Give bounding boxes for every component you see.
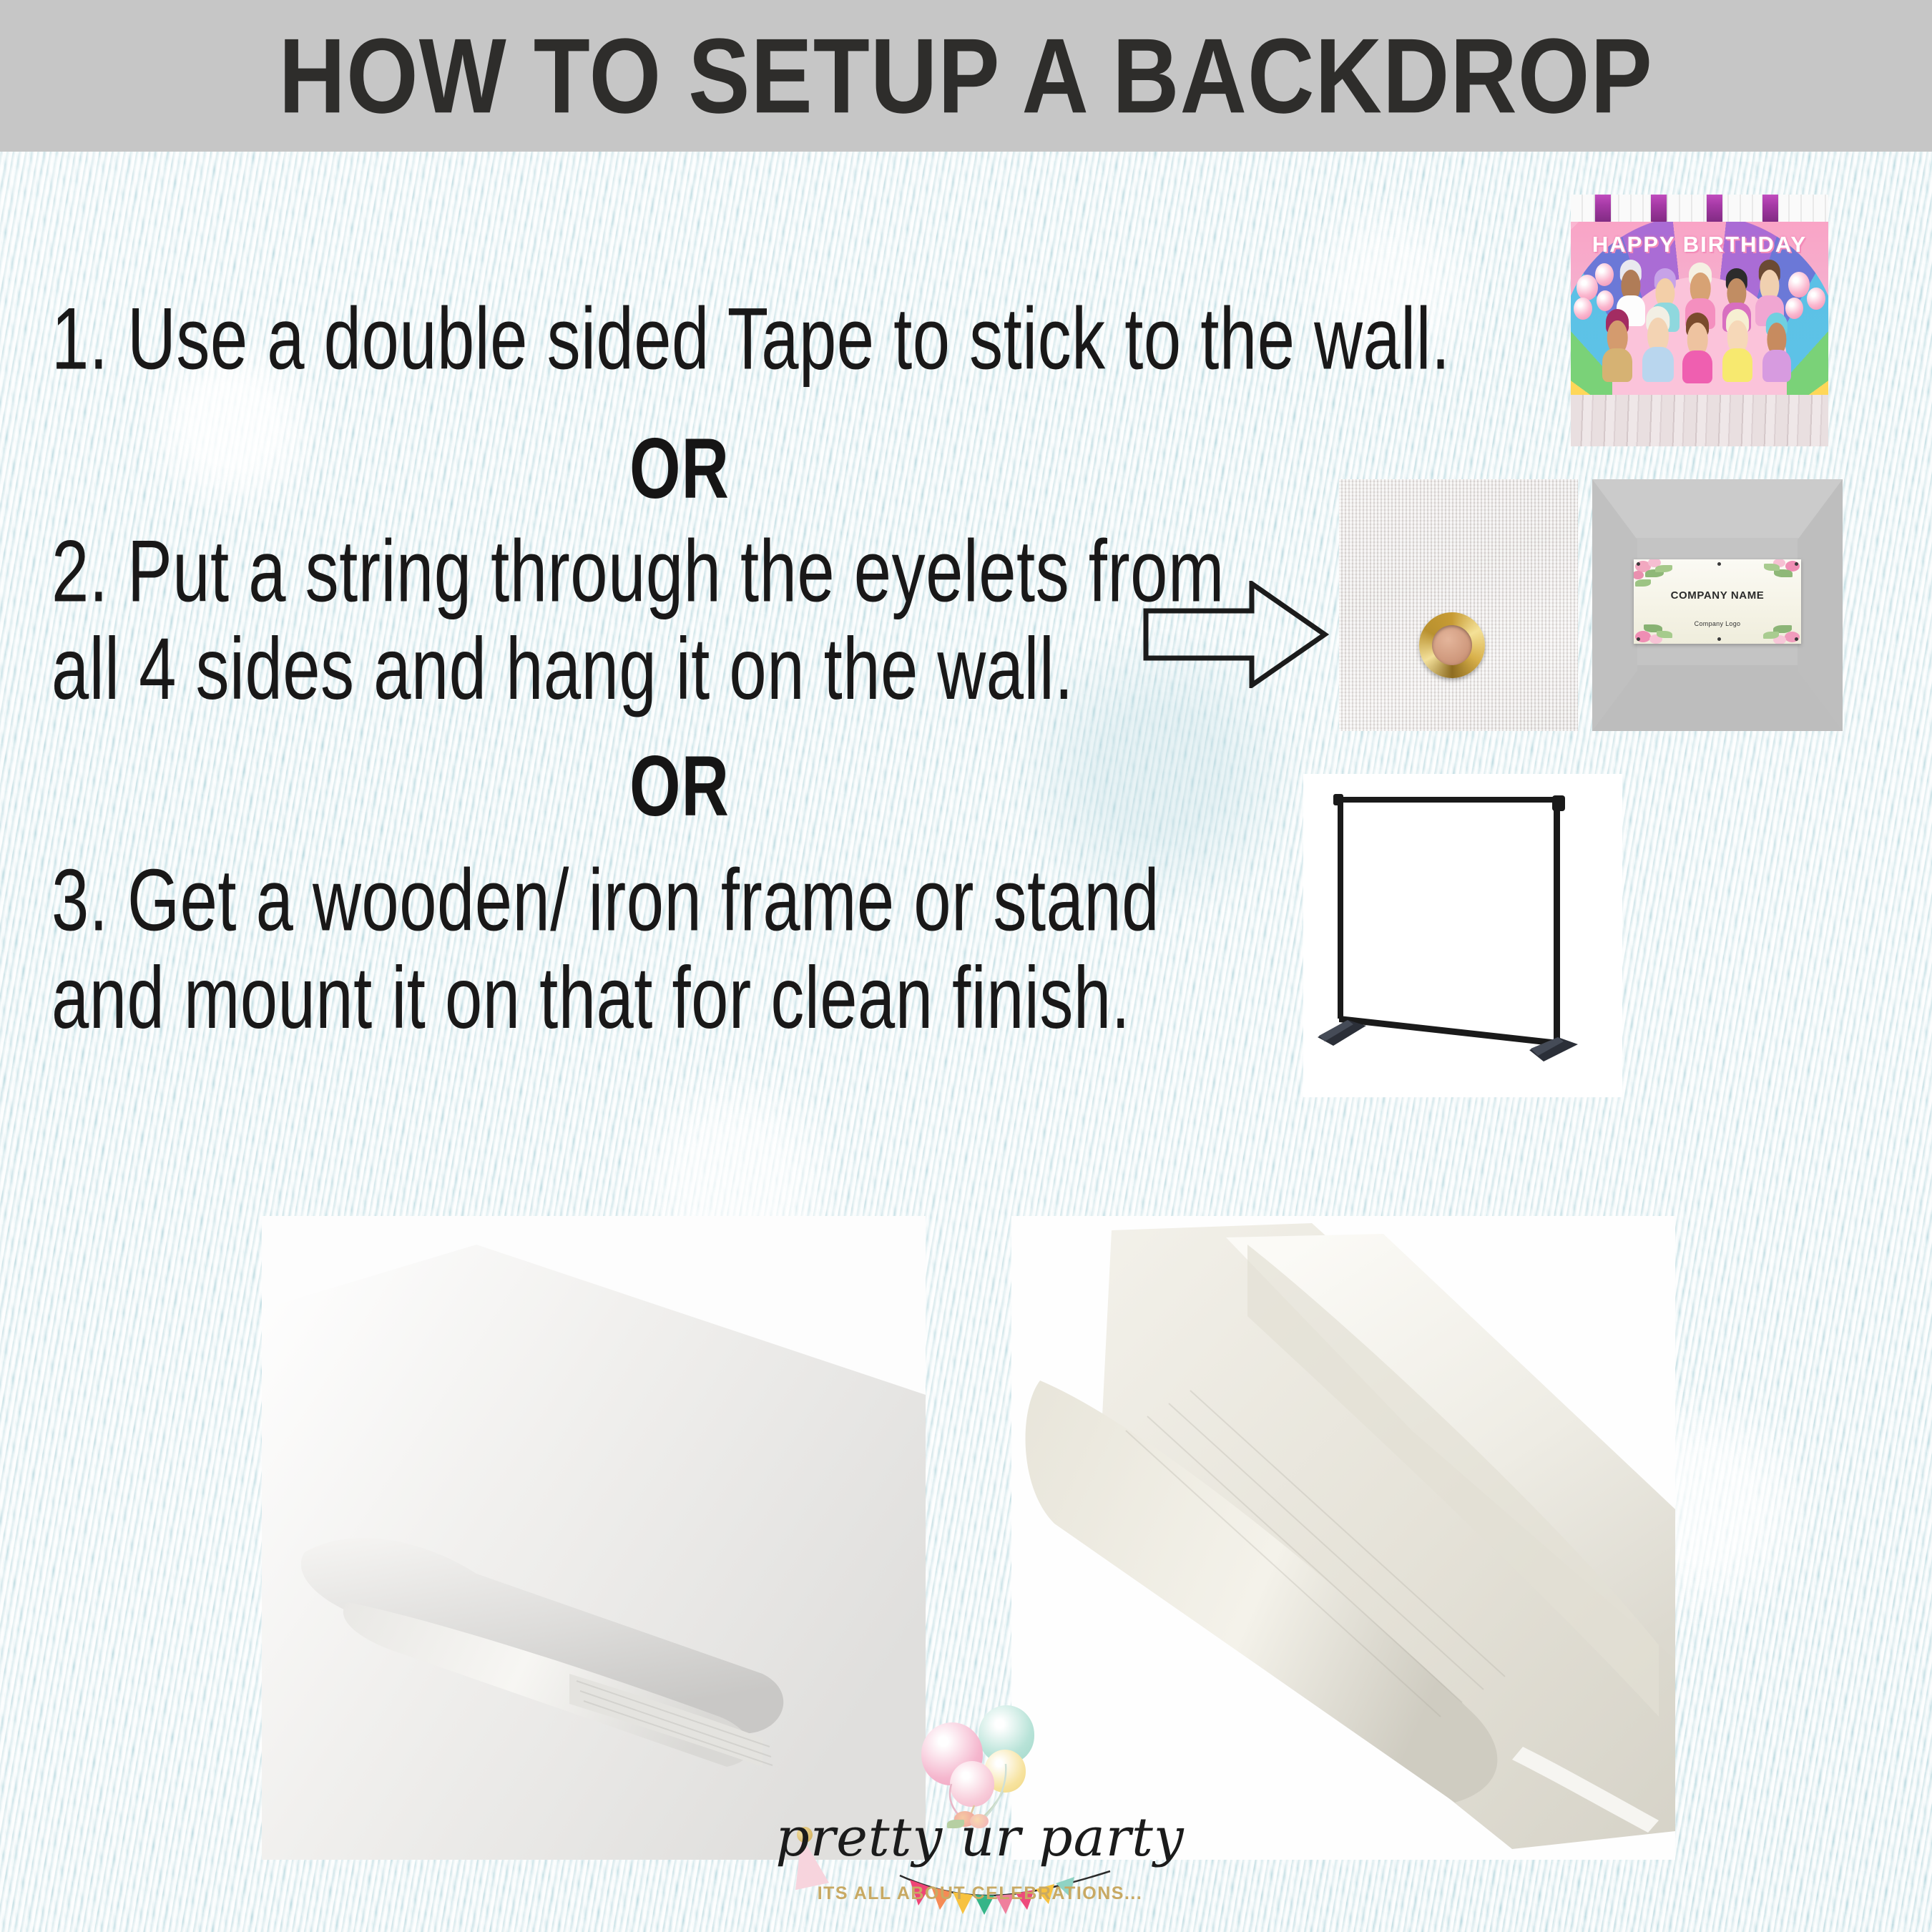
separator-or-2: OR bbox=[629, 738, 730, 836]
backdrop-wood-floor bbox=[1571, 395, 1828, 446]
balloon bbox=[1785, 298, 1803, 319]
step-3-text: 3. Get a wooden/ iron frame or stand and… bbox=[52, 851, 1282, 1047]
brand-logo: pretty ur party ITS ALL ABOUT CELEBRATIO… bbox=[758, 1701, 1202, 1916]
lol-doll bbox=[1642, 312, 1674, 382]
lol-doll bbox=[1682, 318, 1712, 383]
step-2-text: 2. Put a string through the eyelets from… bbox=[52, 522, 1332, 718]
photo-backdrop-stand bbox=[1303, 774, 1622, 1097]
separator-or-1: OR bbox=[629, 421, 730, 519]
balloon bbox=[1597, 290, 1614, 311]
backdrop-clip bbox=[1707, 195, 1722, 223]
room-ceiling bbox=[1592, 479, 1843, 538]
photo-wall-mounted-banner: COMPANY NAME Company Logo bbox=[1592, 479, 1843, 731]
banner-bolt bbox=[1637, 562, 1640, 566]
backdrop-clip bbox=[1762, 195, 1778, 223]
banner-company-logo: Company Logo bbox=[1634, 620, 1801, 627]
header-bar: HOW TO SETUP A BACKDROP bbox=[0, 0, 1932, 152]
step-1-text: 1. Use a double sided Tape to stick to t… bbox=[52, 290, 1575, 388]
photo-lol-birthday-backdrop: HAPPY BIRTHDAY bbox=[1571, 195, 1828, 446]
company-banner: COMPANY NAME Company Logo bbox=[1634, 559, 1801, 644]
page-title: HOW TO SETUP A BACKDROP bbox=[279, 23, 1653, 129]
backdrop-artwork: HAPPY BIRTHDAY bbox=[1571, 222, 1828, 395]
backdrop-happy-birthday-text: HAPPY BIRTHDAY bbox=[1571, 232, 1828, 258]
grommet-icon bbox=[1419, 612, 1485, 678]
banner-bolt bbox=[1795, 637, 1798, 641]
infographic-page: HOW TO SETUP A BACKDROP 1. Use a double … bbox=[0, 0, 1932, 1932]
banner-bolt bbox=[1637, 637, 1640, 641]
photo-eyelet-grommet bbox=[1339, 479, 1578, 731]
brand-name: pretty ur party bbox=[758, 1807, 1202, 1868]
banner-bolt bbox=[1795, 562, 1798, 566]
banner-company-name: COMPANY NAME bbox=[1634, 589, 1801, 602]
right-arrow-icon bbox=[1143, 581, 1329, 688]
backdrop-clip bbox=[1595, 195, 1611, 223]
balloon bbox=[1577, 275, 1598, 300]
balloon bbox=[1807, 288, 1825, 310]
mesh-fabric-texture bbox=[1339, 479, 1578, 731]
balloon bbox=[1788, 272, 1810, 298]
balloon bbox=[1574, 298, 1592, 320]
lol-doll bbox=[1602, 315, 1632, 382]
backdrop-clip bbox=[1651, 195, 1667, 223]
banner-bolt bbox=[1717, 637, 1721, 641]
backdrop-stand-icon bbox=[1303, 774, 1622, 1097]
banner-bolt bbox=[1717, 562, 1721, 566]
lol-doll bbox=[1762, 318, 1791, 382]
balloon bbox=[1595, 263, 1614, 286]
brand-tagline: ITS ALL ABOUT CELEBRATIONS... bbox=[758, 1883, 1202, 1904]
lol-doll bbox=[1722, 315, 1752, 382]
